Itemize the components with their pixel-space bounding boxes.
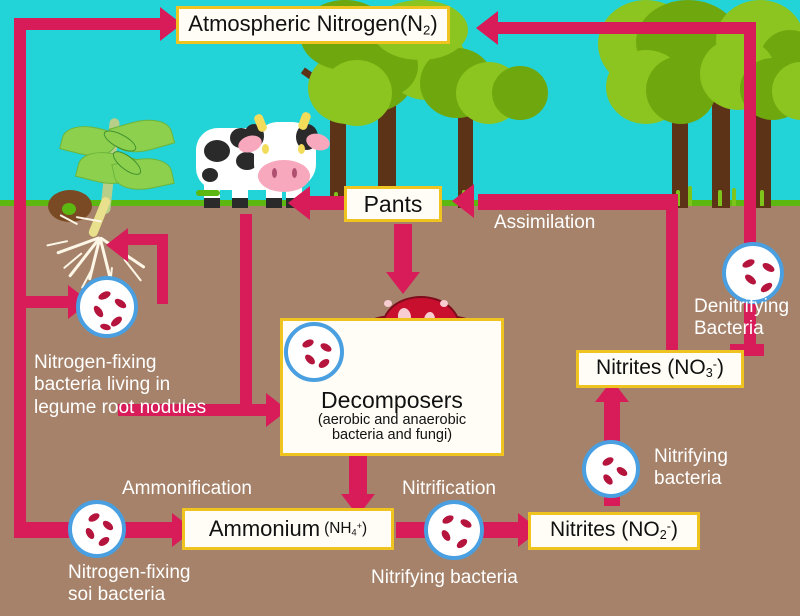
ammonium-formula: (NH4+) xyxy=(324,521,367,538)
arrow-into-soil-bacteria xyxy=(14,522,76,538)
arrow-assimilation-head xyxy=(452,184,474,218)
nitrates-no3-label: Nitrites (NO3-) xyxy=(596,357,724,380)
ammonification-label: Ammonification xyxy=(122,478,252,500)
arrow-nitrifying-to-nitrites-shaft xyxy=(480,522,522,538)
atmospheric-nitrogen-box[interactable]: Atmospheric Nitrogen(N2) xyxy=(176,6,450,44)
arrow-to-atmosphere-top xyxy=(14,18,162,30)
arrow-roots-hook-head xyxy=(106,228,128,262)
arrow-plants-to-cow-head xyxy=(288,186,310,220)
ammonium-label: Ammonium xyxy=(209,517,320,540)
grass-tuft xyxy=(718,190,722,206)
tree-canopy xyxy=(492,66,548,120)
nitrites-no2-label: Nitrites (NO2-) xyxy=(550,519,678,542)
nitrogen-fixing-legume-label: Nitrogen-fixing bacteria living in legum… xyxy=(34,352,206,419)
arrow-atmosphere-to-legume-shaft xyxy=(14,18,26,308)
denitrifying-bacteria-label: Denitrifying Bacteria xyxy=(694,296,789,341)
arrow-plants-to-decomposers-shaft xyxy=(394,224,412,276)
arrow-denitrifying-to-atmosphere-shaft xyxy=(496,22,756,34)
grass-tuft xyxy=(732,188,736,206)
grass-tuft xyxy=(688,186,692,206)
arrow-soil-bacteria-to-ammonium-shaft xyxy=(122,522,174,538)
decomposers-line3: bacteria and fungi) xyxy=(332,428,452,443)
arrow-assimilation-vertical xyxy=(666,194,678,354)
ammonium-box[interactable]: Ammonium(NH4+) xyxy=(182,508,394,550)
plants-box[interactable]: Pants xyxy=(344,186,442,222)
tree-canopy xyxy=(322,60,392,126)
plants-label: Pants xyxy=(364,192,423,216)
bacteria-icon-nitrifying-right xyxy=(582,440,640,498)
bacteria-icon-legume xyxy=(76,276,138,338)
bacteria-icon-denitrifying xyxy=(722,242,784,304)
nitrogen-fixing-soil-bacteria-label: Nitrogen-fixing soi bacteria xyxy=(68,562,191,607)
arrow-plants-to-decomposers-head xyxy=(386,272,420,294)
arrow-assimilation-shaft xyxy=(478,194,676,210)
grass-tuft xyxy=(760,190,764,206)
bacteria-icon-soil xyxy=(68,500,126,558)
bacteria-icon-decomposer xyxy=(284,322,344,382)
nitrification-label: Nitrification xyxy=(402,478,496,500)
decomposers-line2: (aerobic and anaerobic xyxy=(318,413,466,428)
nitrates-no3-box[interactable]: Nitrites (NO3-) xyxy=(576,350,744,388)
arrow-plants-to-decomposers-vertical xyxy=(240,214,252,410)
arrow-left-down-to-soil-bacteria xyxy=(14,296,26,528)
nitrites-no2-box[interactable]: Nitrites (NO2-) xyxy=(528,512,700,550)
bacteria-icon-nitrifying-bottom xyxy=(424,500,484,560)
nitrifying-bacteria-bottom-label: Nitrifying bacteria xyxy=(371,567,518,589)
nitrifying-bacteria-right-label: Nitrifying bacteria xyxy=(654,446,728,491)
atmospheric-nitrogen-label: Atmospheric Nitrogen(N2) xyxy=(188,12,437,37)
arrow-roots-hook-vertical xyxy=(157,234,168,304)
arrow-denitrifying-to-atmosphere-head xyxy=(476,11,498,45)
nitrogen-cycle-diagram: Atmospheric Nitrogen(N2) Pants Decompose… xyxy=(0,0,800,616)
assimilation-label: Assimilation xyxy=(494,212,595,234)
decomposers-title: Decomposers xyxy=(321,388,463,412)
